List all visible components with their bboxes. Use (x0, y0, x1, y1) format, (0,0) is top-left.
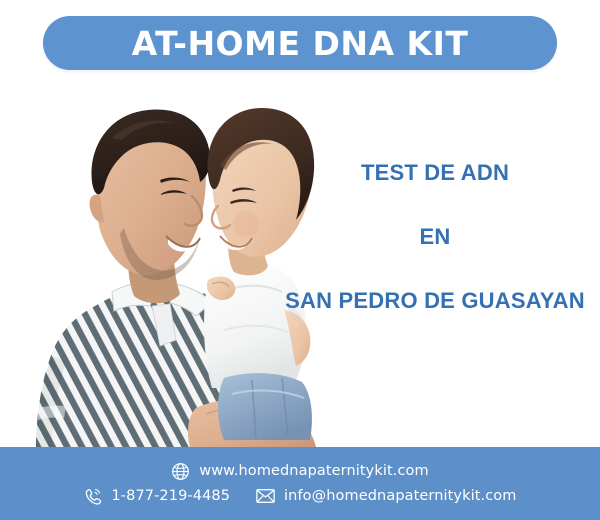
header-pill: AT-HOME DNA KIT (43, 16, 557, 70)
footer-phone-email-row: 1-877-219-4485 info@homednapaternitykit.… (83, 487, 516, 506)
website-contact-item[interactable]: www.homednapaternitykit.com (171, 462, 429, 481)
website-text: www.homednapaternitykit.com (199, 463, 429, 479)
headline-line-3: SAN PEDRO DE GUASAYAN (270, 288, 600, 314)
footer-website-row: www.homednapaternitykit.com (171, 462, 429, 481)
envelope-icon (256, 487, 275, 506)
phone-text: 1-877-219-4485 (111, 488, 230, 504)
globe-icon (171, 462, 190, 481)
email-text: info@homednapaternitykit.com (284, 488, 516, 504)
headline-line-2: EN (270, 224, 600, 250)
phone-icon (83, 487, 102, 506)
email-contact-item[interactable]: info@homednapaternitykit.com (256, 487, 516, 506)
phone-contact-item[interactable]: 1-877-219-4485 (83, 487, 230, 506)
page-title: AT-HOME DNA KIT (132, 27, 469, 60)
dna-kit-banner: AT-HOME DNA KIT (0, 0, 600, 520)
headline-block: TEST DE ADN EN SAN PEDRO DE GUASAYAN (270, 160, 600, 314)
footer-contact-bar: www.homednapaternitykit.com 1-877-219-44… (0, 447, 600, 520)
headline-line-1: TEST DE ADN (270, 160, 600, 186)
